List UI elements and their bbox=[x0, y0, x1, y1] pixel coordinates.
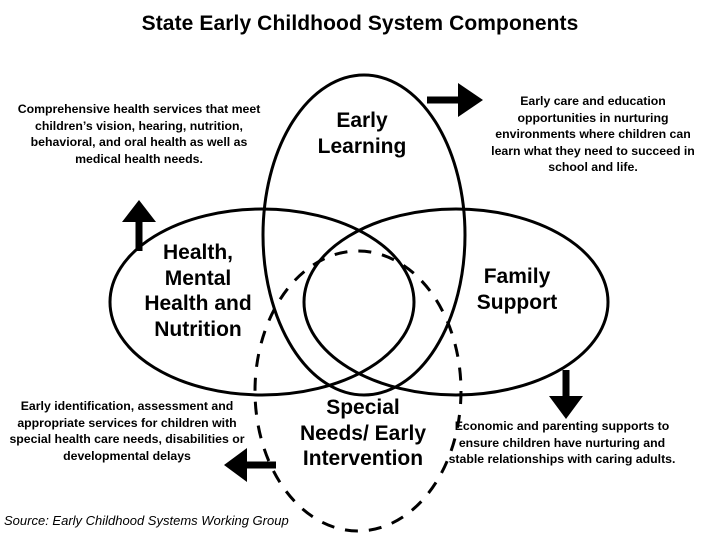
callout-early-identification: Early identification, assessment and app… bbox=[6, 398, 248, 464]
circle-label-early-learning: Early Learning bbox=[287, 108, 437, 159]
circle-label-health-mental-health-nutrition: Health, Mental Health and Nutrition bbox=[113, 240, 283, 342]
diagram-canvas: State Early Childhood System Components … bbox=[0, 0, 720, 540]
circle-label-family-support: Family Support bbox=[443, 264, 591, 315]
callout-early-care-education: Early care and education opportunities i… bbox=[484, 93, 702, 176]
callout-health-services: Comprehensive health services that meet … bbox=[8, 101, 270, 167]
page-title: State Early Childhood System Components bbox=[0, 12, 720, 36]
circle-label-special-needs-early-intervention: Special Needs/ Early Intervention bbox=[265, 395, 461, 472]
callout-economic-parenting-supports: Economic and parenting supports to ensur… bbox=[441, 418, 683, 468]
arrow-down-economic-supports bbox=[549, 370, 583, 419]
circle-special-needs-early-intervention[interactable] bbox=[255, 251, 461, 531]
source-note: Source: Early Childhood Systems Working … bbox=[4, 513, 289, 528]
